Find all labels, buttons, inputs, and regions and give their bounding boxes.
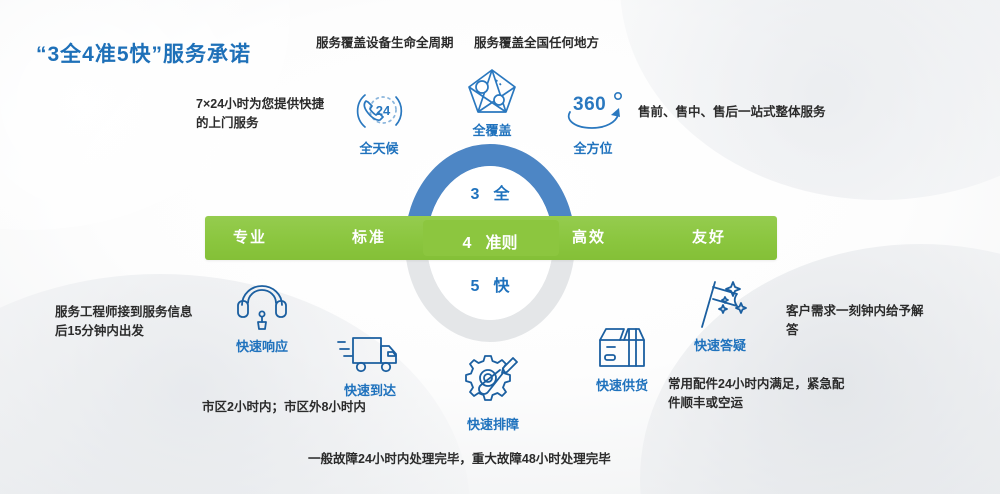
delivery-truck-icon	[336, 330, 404, 376]
icon-item-all-round[interactable]: 360 全方位	[556, 88, 630, 157]
icon-label-fast-answer: 快速答疑	[694, 335, 746, 354]
ring-bottom-word: 快	[493, 278, 509, 295]
band-word-3: 友好	[692, 216, 726, 260]
icon-item-fast-response[interactable]: 快速响应	[225, 278, 299, 355]
ring-middle-word: 准则	[485, 235, 517, 252]
ring-bottom-number: 5	[471, 278, 480, 296]
pentagon-network-icon	[465, 66, 519, 116]
icon-label-fast-response: 快速响应	[236, 336, 288, 355]
open-box-icon	[591, 325, 653, 371]
ring-bottom-text: 5快	[405, 272, 575, 296]
flag-sparkle-icon	[689, 277, 751, 331]
top-note-right: 服务覆盖全国任何地方	[474, 34, 599, 53]
360-degree-icon: 360	[561, 88, 625, 134]
icon-item-all-weather[interactable]: 24 全天候	[342, 88, 416, 157]
phone-24h-icon: 24	[352, 88, 406, 134]
icon-item-fast-arrival[interactable]: 快速到达	[331, 330, 409, 399]
icon-label-all-round: 全方位	[573, 138, 612, 157]
caption-lower-right: 常用配件24小时内满足，紧急配 件顺丰或空运	[668, 375, 844, 413]
icon-label-fast-troubleshoot: 快速排障	[467, 414, 519, 433]
caption-mid-left: 服务工程师接到服务信息 后15分钟内出发	[55, 303, 193, 341]
caption-bottom-center: 一般故障24小时内处理完毕，重大故障48小时处理完毕	[308, 450, 611, 469]
band-word-0: 专业	[233, 216, 267, 260]
headset-icon	[234, 278, 290, 332]
gear-wrench-icon	[461, 352, 525, 410]
icon-item-fast-troubleshoot[interactable]: 快速排障	[454, 352, 532, 433]
icon-item-fast-answer[interactable]: 快速答疑	[681, 277, 759, 354]
infographic-canvas: “3全4准5快”服务承诺 服务覆盖设备生命全周期 服务覆盖全国任何地方 7×24…	[0, 0, 1000, 494]
top-note-left: 服务覆盖设备生命全周期	[316, 34, 454, 53]
ring-middle-number: 4	[463, 235, 472, 253]
ring-top-text: 3全	[405, 180, 575, 204]
caption-mid-right: 客户需求一刻钟内给予解 答	[786, 302, 924, 340]
svg-text:24: 24	[376, 103, 391, 118]
ring-top-word: 全	[493, 186, 509, 203]
icon-item-fast-supply[interactable]: 快速供货	[583, 325, 661, 394]
icon-label-full-coverage: 全覆盖	[472, 120, 511, 139]
icon-label-fast-arrival: 快速到达	[344, 380, 396, 399]
band-word-1: 标准	[352, 216, 386, 260]
ring-top-number: 3	[471, 186, 480, 204]
caption-lower-left: 市区2小时内；市区外8小时内	[202, 398, 366, 417]
background-shade-top-right	[620, 0, 1000, 200]
ring-middle-text: 4准则	[405, 229, 575, 253]
icon-item-full-coverage[interactable]: 全覆盖	[455, 66, 529, 139]
caption-upper-left: 7×24小时为您提供快捷 的上门服务	[196, 95, 324, 133]
svg-text:360: 360	[573, 94, 606, 115]
page-title: “3全4准5快”服务承诺	[36, 38, 251, 68]
caption-upper-right: 售前、售中、售后一站式整体服务	[638, 103, 826, 122]
band-word-2: 高效	[572, 216, 606, 260]
icon-label-fast-supply: 快速供货	[596, 375, 648, 394]
icon-label-all-weather: 全天候	[359, 138, 398, 157]
